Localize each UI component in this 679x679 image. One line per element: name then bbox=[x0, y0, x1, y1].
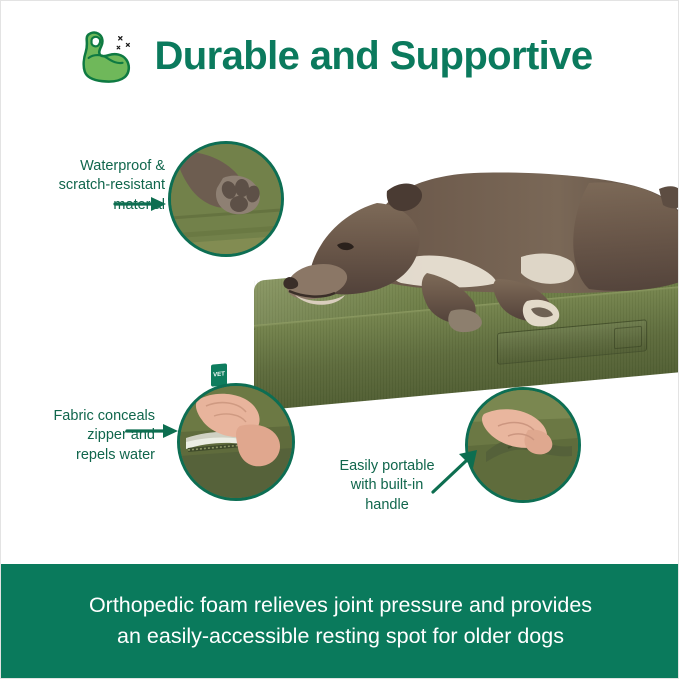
bottom-banner: Orthopedic foam relieves joint pressure … bbox=[1, 564, 679, 678]
arrow-right-icon-waterproof bbox=[113, 195, 169, 218]
inset-paw-on-fabric bbox=[168, 141, 284, 257]
page-title: Durable and Supportive bbox=[155, 36, 593, 76]
product-infographic: Durable and Supportive VET bbox=[0, 0, 679, 679]
banner-line-2: an easily-accessible resting spot for ol… bbox=[117, 621, 564, 652]
inset-hand-opening-zipper bbox=[177, 383, 295, 501]
banner-line-1: Orthopedic foam relieves joint pressure … bbox=[89, 590, 592, 621]
callout-waterproof-line-2: scratch-resistant bbox=[15, 176, 165, 195]
brand-tag-label: VET bbox=[213, 371, 225, 378]
arrow-right-icon-zipper bbox=[125, 422, 181, 445]
flexed-bicep-icon bbox=[77, 25, 139, 87]
callout-waterproof-line-1: Waterproof & bbox=[15, 157, 165, 176]
product-photo-stage: VET bbox=[1, 109, 679, 564]
header: Durable and Supportive bbox=[1, 1, 679, 111]
callout-zipper-line-3: repels water bbox=[7, 446, 155, 465]
arrow-up-right-icon-handle bbox=[429, 446, 485, 501]
